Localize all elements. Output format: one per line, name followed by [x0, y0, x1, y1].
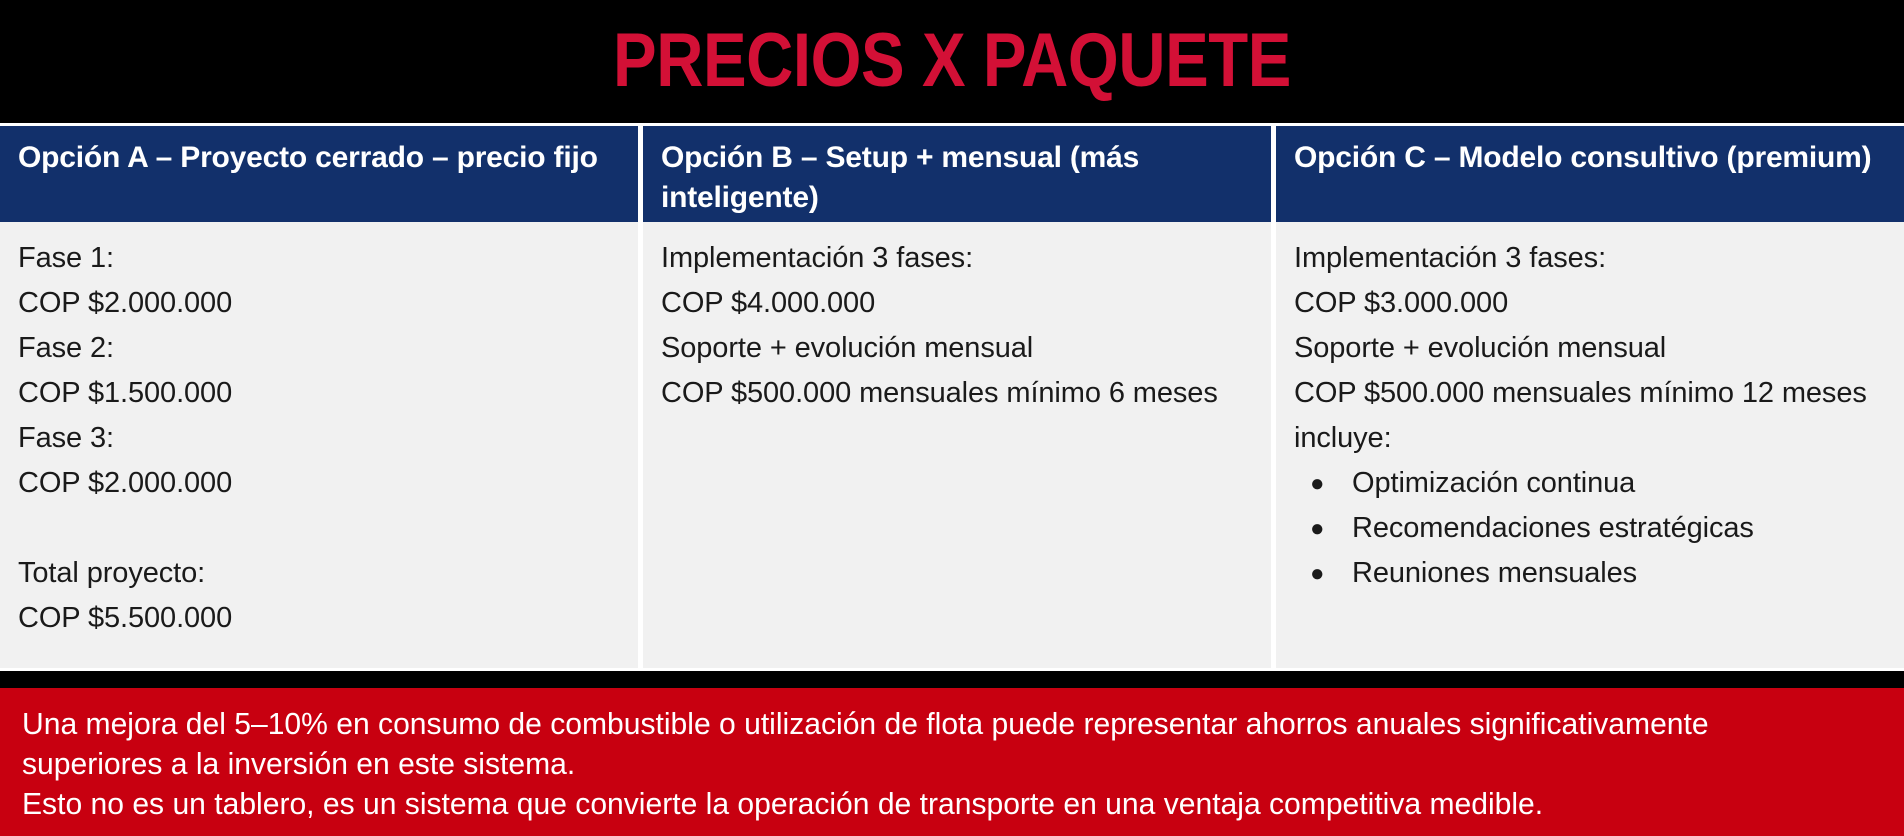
column-c-line: Soporte + evolución mensual	[1294, 326, 1888, 371]
list-item-label: Recomendaciones estratégicas	[1352, 512, 1754, 544]
column-a-header: Opción A – Proyecto cerrado – precio fij…	[0, 126, 638, 222]
column-b-line: COP $500.000 mensuales mínimo 6 meses	[661, 371, 1255, 416]
pricing-table: Opción A – Proyecto cerrado – precio fij…	[0, 123, 1904, 671]
page-title: PRECIOS X PAQUETE	[133, 18, 1770, 104]
column-a-line: Fase 1:	[18, 236, 622, 281]
column-c-body: Implementación 3 fases: COP $3.000.000 S…	[1276, 222, 1904, 668]
column-c-bullet-list: ●Optimización continua ●Recomendaciones …	[1294, 461, 1888, 596]
column-a-spacer	[18, 506, 622, 551]
column-a-body: Fase 1: COP $2.000.000 Fase 2: COP $1.50…	[0, 222, 638, 668]
list-item: ●Recomendaciones estratégicas	[1294, 506, 1888, 551]
column-c-line: COP $500.000 mensuales mínimo 12 meses	[1294, 371, 1888, 416]
banner-paragraph-2: Esto no es un tablero, es un sistema que…	[22, 784, 1828, 824]
column-c-includes-label: incluye:	[1294, 416, 1888, 461]
column-b-header: Opción B – Setup + mensual (más intelige…	[643, 126, 1271, 222]
column-a-line: COP $2.000.000	[18, 461, 622, 506]
column-b-body: Implementación 3 fases: COP $4.000.000 S…	[643, 222, 1271, 668]
column-a-line: Fase 3:	[18, 416, 622, 461]
column-c-header: Opción C – Modelo consultivo (premium)	[1276, 126, 1904, 222]
pricing-column-a: Opción A – Proyecto cerrado – precio fij…	[0, 126, 638, 668]
column-a-line: Fase 2:	[18, 326, 622, 371]
column-b-line: Implementación 3 fases:	[661, 236, 1255, 281]
column-a-line: Total proyecto:	[18, 551, 622, 596]
column-b-line: Soporte + evolución mensual	[661, 326, 1255, 371]
pricing-column-b: Opción B – Setup + mensual (más intelige…	[643, 126, 1271, 668]
column-b-line: COP $4.000.000	[661, 281, 1255, 326]
bullet-dot-icon: ●	[1310, 551, 1324, 596]
value-statement-banner: Una mejora del 5–10% en consumo de combu…	[0, 688, 1904, 836]
column-a-line: COP $5.500.000	[18, 596, 622, 641]
list-item-label: Optimización continua	[1352, 467, 1635, 499]
column-c-line: Implementación 3 fases:	[1294, 236, 1888, 281]
column-a-line: COP $1.500.000	[18, 371, 622, 416]
list-item: ●Reuniones mensuales	[1294, 551, 1888, 596]
bullet-dot-icon: ●	[1310, 506, 1324, 551]
column-c-line: COP $3.000.000	[1294, 281, 1888, 326]
bullet-dot-icon: ●	[1310, 461, 1324, 506]
list-item-label: Reuniones mensuales	[1352, 557, 1637, 589]
banner-paragraph-1: Una mejora del 5–10% en consumo de combu…	[22, 704, 1828, 784]
slide-root: PRECIOS X PAQUETE Opción A – Proyecto ce…	[0, 0, 1904, 836]
column-a-line: COP $2.000.000	[18, 281, 622, 326]
list-item: ●Optimización continua	[1294, 461, 1888, 506]
pricing-column-c: Opción C – Modelo consultivo (premium) I…	[1276, 126, 1904, 668]
